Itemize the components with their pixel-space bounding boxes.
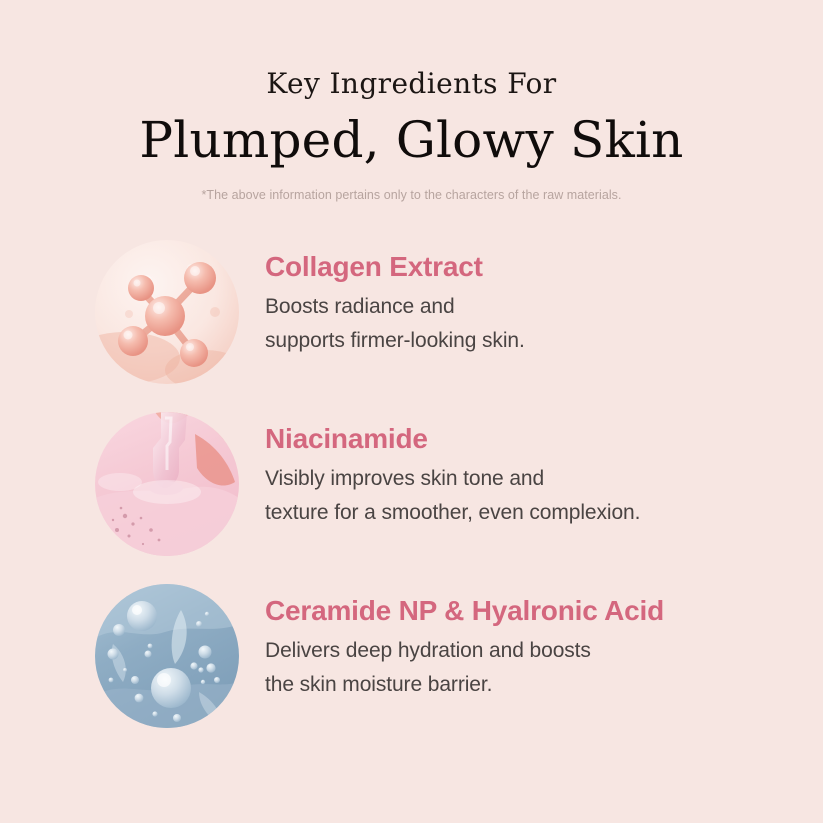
description-line: Boosts radiance and bbox=[265, 290, 795, 324]
ingredient-copy: Niacinamide Visibly improves skin tone a… bbox=[265, 424, 795, 530]
list-item: Collagen Extract Boosts radiance and sup… bbox=[0, 240, 823, 412]
description-line: Delivers deep hydration and boosts bbox=[265, 634, 795, 668]
disclaimer-text: *The above information pertains only to … bbox=[0, 189, 823, 202]
description-line: texture for a smoother, even complexion. bbox=[265, 496, 795, 530]
description-line: the skin moisture barrier. bbox=[265, 668, 795, 702]
ingredient-copy: Collagen Extract Boosts radiance and sup… bbox=[265, 252, 795, 358]
ingredient-title: Ceramide NP & Hyalronic Acid bbox=[265, 596, 795, 627]
ingredient-description: Visibly improves skin tone and texture f… bbox=[265, 462, 795, 530]
ingredient-copy: Ceramide NP & Hyalronic Acid Delivers de… bbox=[265, 596, 795, 702]
ingredient-title: Collagen Extract bbox=[265, 252, 795, 283]
serum-dropper-image bbox=[95, 412, 239, 556]
page-title: Plumped, Glowy Skin bbox=[0, 115, 823, 165]
collagen-molecule-image bbox=[95, 240, 239, 384]
ingredient-title: Niacinamide bbox=[265, 424, 795, 455]
list-item: Ceramide NP & Hyalronic Acid Delivers de… bbox=[0, 584, 823, 756]
water-droplets-image bbox=[95, 584, 239, 728]
ingredient-list: Collagen Extract Boosts radiance and sup… bbox=[0, 240, 823, 756]
description-line: supports firmer-looking skin. bbox=[265, 324, 795, 358]
list-item: Niacinamide Visibly improves skin tone a… bbox=[0, 412, 823, 584]
page-header: Key Ingredients For Plumped, Glowy Skin … bbox=[0, 0, 823, 202]
description-line: Visibly improves skin tone and bbox=[265, 462, 795, 496]
ingredient-description: Delivers deep hydration and boosts the s… bbox=[265, 634, 795, 702]
eyebrow-text: Key Ingredients For bbox=[0, 70, 823, 98]
ingredient-description: Boosts radiance and supports firmer-look… bbox=[265, 290, 795, 358]
